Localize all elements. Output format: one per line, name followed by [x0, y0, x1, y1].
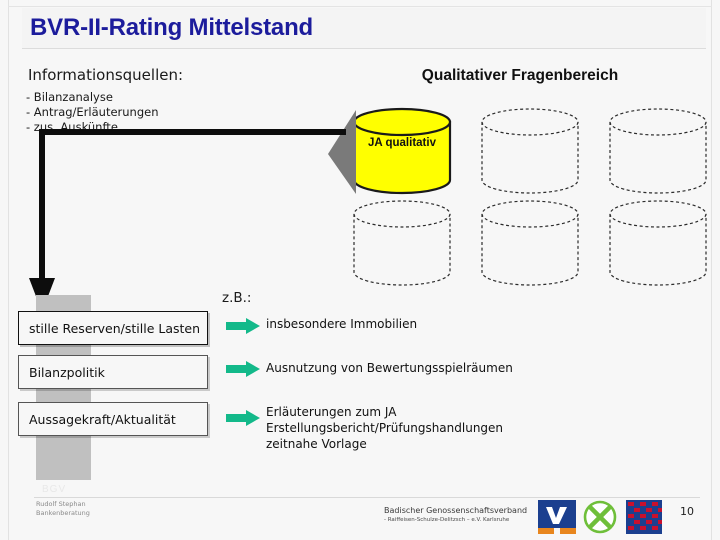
footer-watermark: BGV — [42, 484, 66, 495]
example-text: Erläuterungen zum JA Erstellungsbericht/… — [266, 404, 503, 452]
frame-line-left — [8, 0, 9, 540]
criteria-box-bilanzpolitik[interactable]: Bilanzpolitik — [18, 355, 208, 389]
frame-line-top — [8, 6, 712, 7]
footer-organization: Badischer Genossenschaftsverband - Raiff… — [384, 506, 527, 523]
cylinder-ja-qualitativ: JA qualitativ — [352, 108, 452, 194]
frame-line-right — [711, 0, 712, 540]
footer-author-role: Bankenberatung — [36, 509, 90, 518]
footer-logos — [538, 500, 666, 534]
criteria-box-stille-reserven[interactable]: stille Reserven/stille Lasten — [18, 311, 208, 345]
cylinder-empty-4 — [480, 200, 580, 286]
right-arrow-icon — [226, 361, 260, 377]
qualitative-section-heading: Qualitativer Fragenbereich — [400, 67, 640, 85]
green-x-logo-icon — [582, 500, 618, 534]
checkered-logo-icon — [626, 500, 662, 534]
information-sources-heading: Informationsquellen: — [28, 66, 183, 84]
example-label: z.B.: — [222, 290, 251, 306]
vr-bank-logo-icon — [538, 500, 576, 534]
criteria-box-label: Aussagekraft/Aktualität — [29, 412, 176, 427]
footer-org-name: Badischer Genossenschaftsverband — [384, 506, 527, 515]
footer-divider — [34, 497, 700, 498]
criteria-box-aussagekraft[interactable]: Aussagekraft/Aktualität — [18, 402, 208, 436]
criteria-box-label: stille Reserven/stille Lasten — [29, 321, 200, 336]
cylinder-empty-1 — [480, 108, 580, 194]
list-item: - Antrag/Erläuterungen — [26, 105, 159, 120]
list-item: - Bilanzanalyse — [26, 90, 159, 105]
cylinder-empty-2 — [608, 108, 708, 194]
example-text: insbesondere Immobilien — [266, 316, 417, 332]
footer-author-name: Rudolf Stephan — [36, 500, 90, 509]
example-text: Ausnutzung von Bewertungsspielräumen — [266, 360, 513, 376]
footer-org-subtitle: - Raiffeisen-Schulze-Delitzsch – e.V. Ka… — [384, 517, 527, 523]
right-arrow-icon — [226, 410, 260, 426]
cylinder-empty-5 — [608, 200, 708, 286]
page-number: 10 — [680, 505, 694, 518]
cylinder-empty-3 — [352, 200, 452, 286]
footer-author: Rudolf Stephan Bankenberatung — [36, 500, 90, 518]
page-title: BVR-II-Rating Mittelstand — [30, 14, 313, 42]
slide-canvas: BVR-II-Rating Mittelstand Informationsqu… — [0, 0, 720, 540]
criteria-box-label: Bilanzpolitik — [29, 365, 105, 380]
right-arrow-icon — [226, 318, 260, 334]
elbow-arrow-icon — [28, 126, 348, 316]
